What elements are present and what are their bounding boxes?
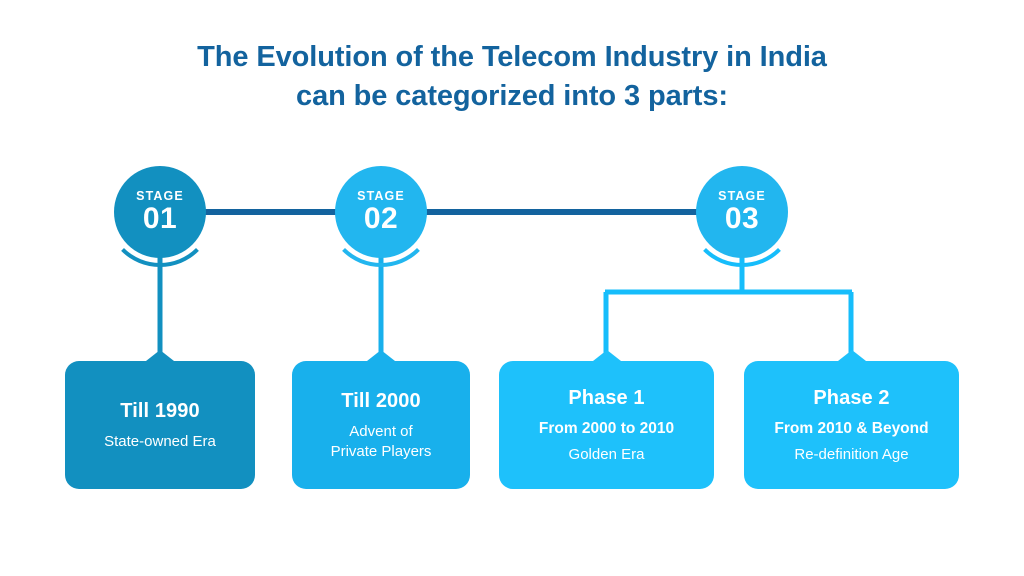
stage-number-01: 01 xyxy=(143,204,177,234)
card-heading-4: Phase 2 xyxy=(813,386,889,410)
page-title-line-1: The Evolution of the Telecom Industry in… xyxy=(0,38,1024,77)
stage-kicker-01: STAGE xyxy=(136,190,184,203)
card-till-2000[interactable]: Till 2000 Advent of Private Players xyxy=(292,361,470,489)
page-title: The Evolution of the Telecom Industry in… xyxy=(0,38,1024,116)
card-notch-3 xyxy=(593,350,621,361)
stage-number-02: 02 xyxy=(364,204,398,234)
card-substrong-3: From 2000 to 2010 xyxy=(539,419,674,438)
card-heading-2: Till 2000 xyxy=(341,389,420,413)
card-subline-1-1: State-owned Era xyxy=(104,432,216,452)
card-notch-2 xyxy=(367,350,395,361)
card-phase-2[interactable]: Phase 2 From 2010 & Beyond Re-definition… xyxy=(744,361,959,489)
stage-disc-01: STAGE 01 xyxy=(114,166,206,258)
stage-number-03: 03 xyxy=(725,204,759,234)
card-substrong-4: From 2010 & Beyond xyxy=(774,419,928,438)
page-title-line-2: can be categorized into 3 parts: xyxy=(0,77,1024,116)
stage-node-02[interactable]: STAGE 02 xyxy=(335,166,427,258)
card-heading-3: Phase 1 xyxy=(568,386,644,410)
card-heading-1: Till 1990 xyxy=(120,399,199,423)
card-notch-1 xyxy=(146,350,174,361)
card-subline-4-1: Re-definition Age xyxy=(794,445,908,465)
stage-node-03[interactable]: STAGE 03 xyxy=(696,166,788,258)
card-subline-3-1: Golden Era xyxy=(569,445,645,465)
stage-kicker-03: STAGE xyxy=(718,190,766,203)
stage-disc-02: STAGE 02 xyxy=(335,166,427,258)
card-till-1990[interactable]: Till 1990 State-owned Era xyxy=(65,361,255,489)
stage-node-01[interactable]: STAGE 01 xyxy=(114,166,206,258)
card-notch-4 xyxy=(838,350,866,361)
card-subline-2-1: Advent of xyxy=(349,422,412,442)
infographic-canvas: The Evolution of the Telecom Industry in… xyxy=(0,0,1024,576)
stage-kicker-02: STAGE xyxy=(357,190,405,203)
card-phase-1[interactable]: Phase 1 From 2000 to 2010 Golden Era xyxy=(499,361,714,489)
card-subline-2-2: Private Players xyxy=(331,442,432,462)
stage-disc-03: STAGE 03 xyxy=(696,166,788,258)
